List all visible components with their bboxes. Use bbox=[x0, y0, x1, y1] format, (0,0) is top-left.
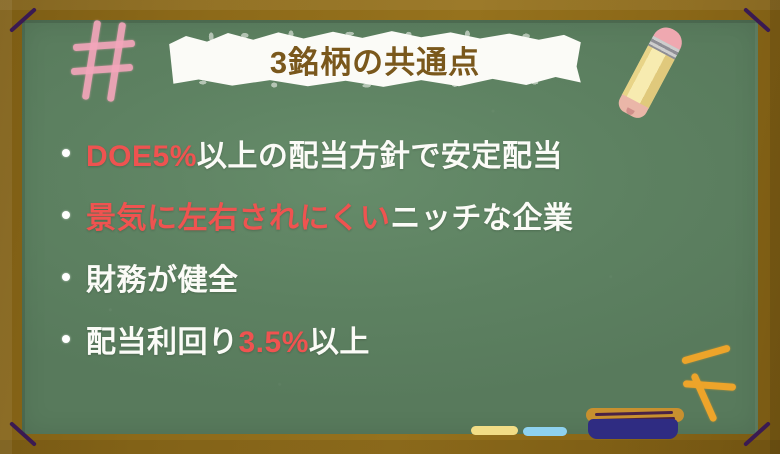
bullet-3-segment-1: 財務が健全 bbox=[86, 264, 239, 297]
slide-canvas: 3銘柄の共通点 DOE5%以上の配当方針で安定配当 景気に左右されにくいニッチな… bbox=[0, 0, 780, 454]
hash-stroke-vertical-2 bbox=[107, 22, 126, 102]
bullet-list: DOE5%以上の配当方針で安定配当 景気に左右されにくいニッチな企業 財務が健全… bbox=[62, 122, 662, 370]
bullet-4-segment-3: 以上 bbox=[309, 326, 370, 359]
bullet-dot-icon bbox=[62, 211, 70, 219]
blackboard-eraser-icon bbox=[586, 406, 684, 438]
bullet-dot-icon bbox=[62, 273, 70, 281]
bullet-2-segment-1: 景気に左右されにくい bbox=[86, 202, 390, 235]
title-banner: 3銘柄の共通点 bbox=[165, 28, 585, 90]
bullet-text-1: DOE5%以上の配当方針で安定配当 bbox=[86, 131, 563, 175]
chalk-stick-yellow-icon bbox=[471, 426, 518, 435]
eraser-block-part bbox=[588, 419, 678, 439]
bullet-1-segment-1: DOE5% bbox=[86, 140, 197, 173]
bullet-dot-icon bbox=[62, 335, 70, 343]
bullet-text-2: 景気に左右されにくいニッチな企業 bbox=[86, 193, 573, 237]
page-title: 3銘柄の共通点 bbox=[165, 28, 585, 90]
list-item: DOE5%以上の配当方針で安定配当 bbox=[62, 122, 662, 184]
list-item: 景気に左右されにくいニッチな企業 bbox=[62, 184, 662, 246]
bullet-dot-icon bbox=[62, 149, 70, 157]
chalk-stick-blue-icon bbox=[523, 427, 567, 436]
list-item: 配当利回り3.5%以上 bbox=[62, 308, 662, 370]
bullet-1-segment-2: 以上の配当方針で安定配当 bbox=[197, 140, 563, 173]
bullet-text-3: 財務が健全 bbox=[86, 255, 239, 299]
list-item: 財務が健全 bbox=[62, 246, 662, 308]
bullet-2-segment-2: ニッチな企業 bbox=[390, 202, 573, 235]
hash-stroke-horizontal-2 bbox=[71, 64, 133, 75]
hash-stroke-vertical-1 bbox=[82, 20, 101, 100]
hash-stroke-horizontal-1 bbox=[73, 40, 135, 51]
bullet-text-4: 配当利回り3.5%以上 bbox=[86, 317, 370, 361]
hash-doodle-icon bbox=[70, 18, 142, 104]
bullet-4-segment-1: 配当利回り bbox=[86, 326, 239, 359]
bullet-4-segment-2: 3.5% bbox=[239, 326, 309, 359]
